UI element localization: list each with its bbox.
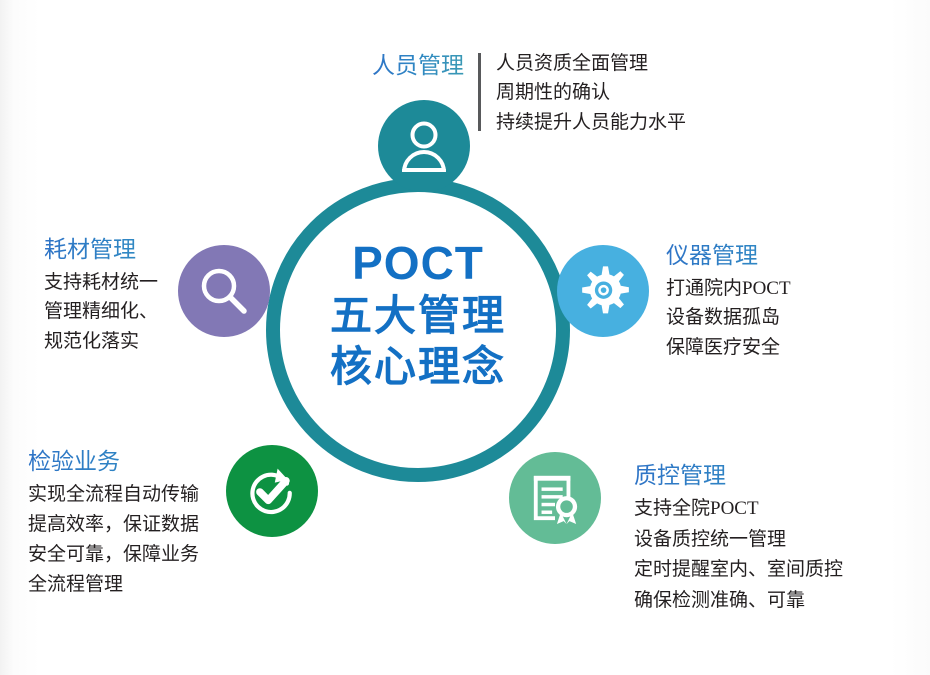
line-item: 持续提升人员能力水平	[496, 108, 686, 137]
text-block-quality-control-management: 质控管理 支持全院POCT 设备质控统一管理 定时提醒室内、室间质控 确保检测准…	[634, 462, 884, 617]
lines-person-management: 人员资质全面管理 周期性的确认 持续提升人员能力水平	[496, 46, 686, 137]
node-instrument-management[interactable]	[557, 245, 649, 337]
heading-consumable-management: 耗材管理	[44, 236, 224, 265]
line-item: 提高效率，保证数据	[28, 510, 258, 540]
certificate-icon	[530, 472, 580, 524]
line-item: 全流程管理	[28, 570, 258, 600]
line-item: 实现全流程自动传输	[28, 480, 258, 510]
line-item: 安全可靠，保障业务	[28, 540, 258, 570]
text-block-lab-business: 检验业务 实现全流程自动传输 提高效率，保证数据 安全可靠，保障业务 全流程管理	[28, 448, 258, 600]
line-item: 设备数据孤岛	[666, 303, 866, 332]
text-block-instrument-management: 仪器管理 打通院内POCT 设备数据孤岛 保障医疗安全	[666, 242, 866, 362]
center-title-poct: POCT	[300, 240, 536, 286]
line-item: 人员资质全面管理	[496, 49, 686, 78]
line-item: 支持全院POCT	[634, 494, 884, 525]
line-item: 设备质控统一管理	[634, 525, 884, 556]
node-quality-control-management[interactable]	[509, 452, 601, 544]
text-block-person-management: 人员管理 人员资质全面管理 周期性的确认 持续提升人员能力水平	[372, 46, 712, 137]
heading-instrument-management: 仪器管理	[666, 242, 866, 271]
line-item: 确保检测准确、可靠	[634, 586, 884, 617]
center-title-line1: 五大管理	[300, 295, 536, 337]
line-item: 定时提醒室内、室间质控	[634, 555, 884, 586]
line-item: 规范化落实	[44, 327, 224, 356]
diagram-canvas: POCT 五大管理 核心理念	[0, 0, 930, 675]
line-item: 保障医疗安全	[666, 333, 866, 362]
line-item: 周期性的确认	[496, 78, 686, 107]
line-item: 支持耗材统一	[44, 268, 224, 297]
heading-person-management: 人员管理	[372, 52, 464, 81]
heading-quality-control-management: 质控管理	[634, 462, 884, 491]
center-label: POCT 五大管理 核心理念	[300, 240, 536, 388]
center-title-line2: 核心理念	[300, 346, 536, 388]
vertical-divider	[478, 53, 481, 131]
line-item: 打通院内POCT	[666, 274, 866, 303]
gear-icon	[575, 263, 631, 319]
line-item: 管理精细化、	[44, 297, 224, 326]
text-block-consumable-management: 耗材管理 支持耗材统一 管理精细化、 规范化落实	[44, 236, 224, 356]
heading-lab-business: 检验业务	[28, 448, 258, 477]
